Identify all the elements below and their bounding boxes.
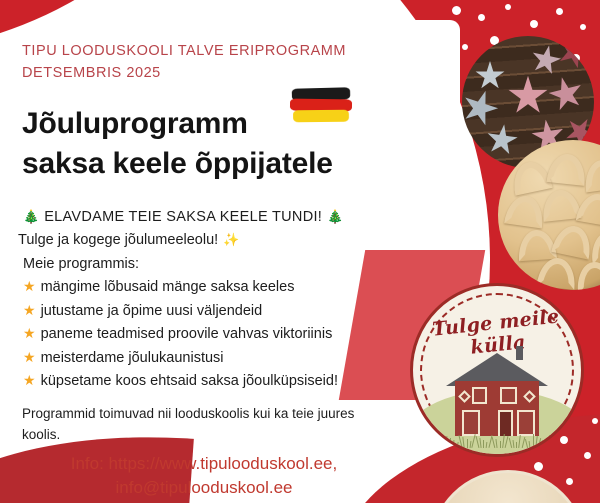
house-diamond-left	[458, 390, 471, 403]
kicker-line-1: TIPU LOODUSKOOLI TALVE ERIPROGRAMM	[22, 41, 382, 63]
page-title: Jõuluprogramm saksa keele õppijatele	[22, 104, 422, 184]
grass-blade	[549, 435, 550, 448]
contact-info: Info: https://www.tipulooduskool.ee, inf…	[24, 452, 384, 500]
footer-note: Programmid toimuvad nii looduskoolis kui…	[22, 404, 394, 446]
star-icon: ★	[23, 350, 36, 364]
winter-program-poster: TIPU LOODUSKOOLI TALVE ERIPROGRAMM DETSE…	[0, 0, 600, 503]
house-body	[455, 381, 539, 436]
list-item-label: jutustame ja õpime uusi väljendeid	[41, 300, 263, 323]
list-intro: Meie programmis:	[23, 253, 139, 276]
sparkles-icon: ✨	[223, 229, 239, 250]
headline-line-2: saksa keele õppijatele	[22, 144, 422, 184]
house-diamond-right	[523, 390, 536, 403]
email-link[interactable]: info@tipulooduskool.ee	[24, 476, 384, 500]
kicker-text: TIPU LOODUSKOOLI TALVE ERIPROGRAMM DETSE…	[22, 41, 382, 85]
website-link[interactable]: Info: https://www.tipulooduskool.ee,	[24, 452, 384, 476]
headline-line-1: Jõuluprogramm	[22, 104, 422, 144]
body-subheading: Tulge ja kogege jõulumeeleolu!	[18, 229, 218, 252]
grass-blade	[566, 436, 567, 448]
list-item: ★ paneme teadmised proovile vahvas vikto…	[18, 323, 418, 346]
star-icon: ★	[23, 279, 36, 293]
grass-blade	[467, 439, 468, 448]
star-icon: ★	[23, 373, 36, 387]
grass-blade	[533, 434, 534, 448]
list-item: ★ meisterdame jõulukaunistusi	[18, 347, 418, 370]
house-window-upper-right	[500, 387, 517, 404]
body-heading: ELAVDAME TEIE SAKSA KEELE TUNDI!	[44, 206, 322, 229]
list-item: ★ küpsetame koos ehtsaid saksa jõoulküps…	[18, 370, 418, 393]
body-heading-row: 🎄 ELAVDAME TEIE SAKSA KEELE TUNDI! 🎄	[18, 206, 418, 229]
grass-blade	[434, 437, 435, 448]
body-subheading-row: Tulge ja kogege jõulumeeleolu! ✨	[18, 229, 418, 252]
house-door	[498, 410, 513, 436]
list-item-label: küpsetame koos ehtsaid saksa jõoulküpsis…	[41, 370, 338, 393]
red-house-illustration	[447, 350, 547, 436]
visit-us-badge: Tulge meile külla	[410, 283, 584, 457]
grass-blade	[483, 440, 484, 448]
grass-blade	[516, 442, 517, 448]
list-item-label: mängime lõbusaid mänge saksa keeles	[41, 276, 295, 299]
star-icon: ★	[23, 303, 36, 317]
star-icon: ★	[23, 326, 36, 340]
list-intro-row: Meie programmis:	[18, 253, 418, 276]
list-item: ★ jutustame ja õpime uusi väljendeid	[18, 300, 418, 323]
program-body: 🎄 ELAVDAME TEIE SAKSA KEELE TUNDI! 🎄 Tul…	[18, 206, 418, 394]
house-window-lower-right	[517, 410, 535, 436]
list-item-label: paneme teadmised proovile vahvas viktori…	[41, 323, 333, 346]
house-window-lower-left	[462, 410, 480, 436]
flag-stripe-gold	[293, 110, 349, 123]
christmas-tree-icon-right: 🎄	[327, 206, 343, 227]
list-item-label: meisterdame jõulukaunistusi	[41, 347, 224, 370]
christmas-tree-icon-left: 🎄	[23, 206, 39, 227]
house-window-upper-left	[472, 387, 487, 404]
kicker-line-2: DETSEMBRIS 2025	[22, 63, 382, 85]
grass-blade	[500, 441, 501, 448]
list-item: ★ mängime lõbusaid mänge saksa keeles	[18, 276, 418, 299]
grass-blade	[450, 438, 451, 448]
german-flag-icon	[290, 88, 352, 124]
